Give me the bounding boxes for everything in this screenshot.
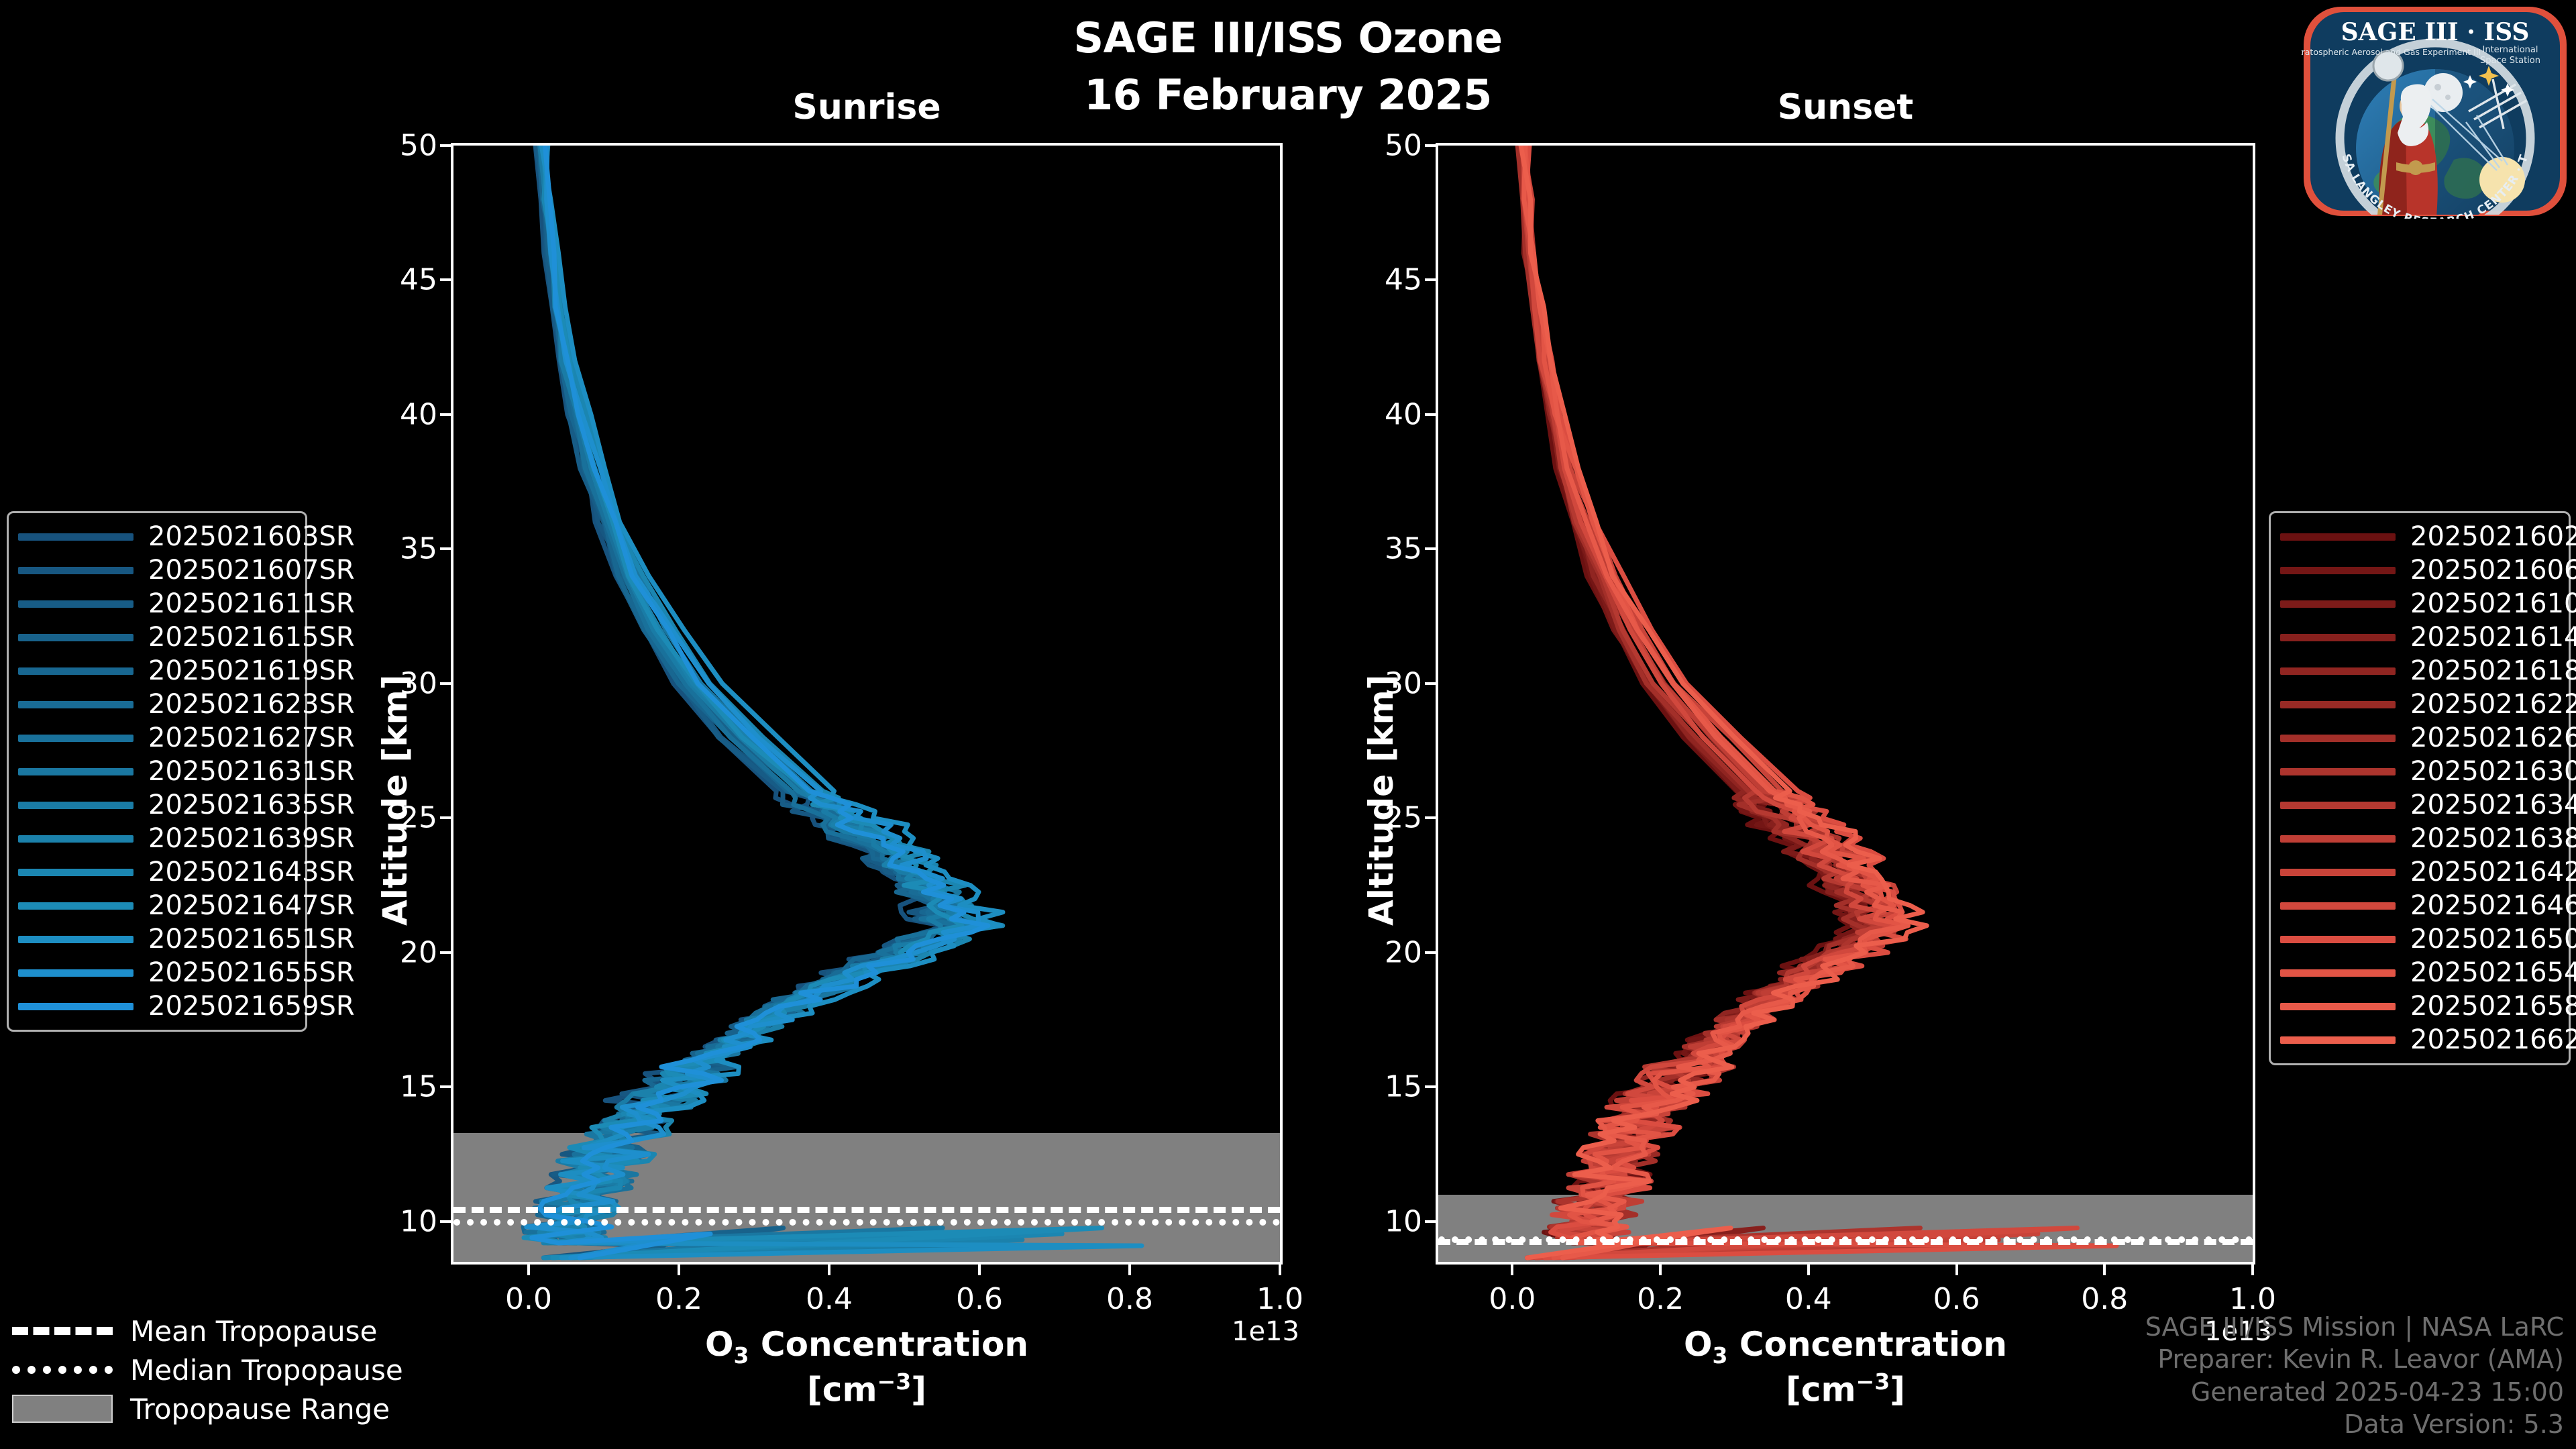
- legend-sunrise[interactable]: 2025021603SR2025021607SR2025021611SR2025…: [7, 511, 307, 1032]
- legend-item-label: 2025021619SR: [148, 655, 355, 686]
- y-tick-label: 45: [1355, 263, 1422, 297]
- legend-sunset[interactable]: 2025021602SS2025021606SS2025021610SS2025…: [2269, 511, 2571, 1065]
- legend-item-label: 2025021646SS: [2410, 890, 2576, 921]
- x-axis-label-sunrise: O3 Concentration [cm−3]: [451, 1325, 1283, 1410]
- credits-line: Preparer: Kevin R. Leavor (AMA): [2145, 1343, 2564, 1376]
- legend-sunset-item[interactable]: 2025021658SS: [2280, 989, 2559, 1023]
- legend-item-label: 2025021643SR: [148, 857, 355, 888]
- xlabel-o: O: [705, 1325, 734, 1364]
- y-tick-label: 40: [370, 397, 437, 431]
- logo-title: SAGE III · ISS: [2341, 18, 2530, 46]
- figure-canvas: SAGE III/ISS Ozone 16 February 2025 Sunr…: [0, 0, 2576, 1449]
- y-tick-mark: [440, 1220, 451, 1223]
- legend-color-swatch: [18, 802, 133, 809]
- y-tick-label: 35: [1355, 532, 1422, 566]
- x-tick-label: 0.8: [1106, 1282, 1153, 1316]
- tropopause-key-item: Mean Tropopause: [12, 1311, 428, 1350]
- profile-line: [545, 146, 949, 1258]
- panel-title-sunset: Sunset: [1436, 87, 2255, 127]
- profile-line: [531, 146, 1142, 1258]
- legend-item-label: 2025021627SR: [148, 722, 355, 753]
- legend-color-swatch: [2280, 567, 2396, 574]
- legend-item-label: 2025021610SS: [2410, 588, 2576, 619]
- page-title-line1: SAGE III/ISS Ozone: [0, 13, 2576, 62]
- x-tick-mark: [1955, 1265, 1958, 1275]
- legend-sunrise-item[interactable]: 2025021639SR: [18, 822, 296, 855]
- legend-item-label: 2025021635SR: [148, 790, 355, 820]
- profile-line: [1524, 146, 2077, 1258]
- xlabel-unit-close: ]: [1890, 1371, 1905, 1409]
- y-tick-mark: [1425, 816, 1436, 819]
- profile-line: [1521, 146, 1960, 1258]
- profile-line: [527, 146, 979, 1258]
- legend-item-label: 2025021639SR: [148, 823, 355, 854]
- y-tick-label: 40: [1355, 397, 1422, 431]
- legend-color-swatch: [18, 567, 133, 574]
- legend-sunset-item[interactable]: 2025021630SS: [2280, 755, 2559, 788]
- x-axis-label-sunset: O3 Concentration [cm−3]: [1436, 1325, 2255, 1410]
- x-tick-label: 0.4: [806, 1282, 853, 1316]
- xlabel-subscript: 3: [1713, 1342, 1728, 1368]
- median-tropopause-line: [453, 1219, 1280, 1226]
- xlabel-subscript: 3: [734, 1342, 749, 1368]
- y-tick-label: 20: [370, 935, 437, 969]
- plot-axes-sunrise: [451, 143, 1283, 1265]
- legend-color-swatch: [2280, 936, 2396, 943]
- x-tick-label: 0.4: [1785, 1282, 1832, 1316]
- y-tick-mark: [1425, 278, 1436, 281]
- profile-line: [1523, 146, 2038, 1258]
- y-tick-label: 45: [370, 263, 437, 297]
- x-tick-mark: [1511, 1265, 1513, 1275]
- y-tick-label: 15: [370, 1070, 437, 1104]
- profile-line: [1525, 146, 2116, 1258]
- x-tick-mark: [1279, 1265, 1281, 1275]
- legend-color-swatch: [2280, 969, 2396, 977]
- legend-color-swatch: [18, 600, 133, 608]
- profile-line: [532, 146, 988, 1258]
- legend-sunset-item[interactable]: 2025021650SS: [2280, 922, 2559, 956]
- legend-color-swatch: [2280, 902, 2396, 910]
- ozone-profile-curves: [453, 146, 1280, 1262]
- logo-subtitle-left: Stratospheric Aerosol and Gas Experiment…: [2301, 47, 2481, 57]
- profile-line: [523, 146, 966, 1258]
- legend-sunrise-item[interactable]: 2025021619SR: [18, 654, 296, 688]
- x-tick-label: 0.6: [1933, 1282, 1980, 1316]
- profile-line: [1526, 146, 1891, 1258]
- legend-color-swatch: [2280, 667, 2396, 675]
- legend-sunrise-item[interactable]: 2025021603SR: [18, 520, 296, 553]
- y-tick-mark: [440, 144, 451, 147]
- legend-color-swatch: [18, 969, 133, 977]
- legend-item-label: 2025021630SS: [2410, 756, 2576, 787]
- x-tick-label: 0.8: [2081, 1282, 2128, 1316]
- legend-color-swatch: [18, 902, 133, 910]
- legend-sunset-item[interactable]: 2025021614SS: [2280, 621, 2559, 654]
- legend-sunrise-item[interactable]: 2025021651SR: [18, 922, 296, 956]
- legend-color-swatch: [2280, 701, 2396, 708]
- y-tick-mark: [1425, 547, 1436, 550]
- legend-color-swatch: [18, 936, 133, 943]
- legend-color-swatch: [18, 667, 133, 675]
- profile-line: [540, 146, 987, 1258]
- legend-item-label: 2025021623SR: [148, 689, 355, 720]
- legend-sunrise-item[interactable]: 2025021635SR: [18, 788, 296, 822]
- x-tick-label: 0.2: [655, 1282, 702, 1316]
- x-tick-mark: [1659, 1265, 1662, 1275]
- legend-item-label: 2025021614SS: [2410, 622, 2576, 653]
- legend-sunrise-item[interactable]: 2025021607SR: [18, 553, 296, 587]
- legend-sunrise-item[interactable]: 2025021611SR: [18, 587, 296, 621]
- legend-color-swatch: [18, 768, 133, 775]
- profile-line: [1523, 146, 1999, 1258]
- profile-line: [534, 146, 981, 1258]
- profile-line: [1527, 146, 1900, 1258]
- profile-line: [1521, 146, 1927, 1258]
- gray-patch-icon: [12, 1395, 113, 1423]
- legend-item-label: 2025021638SS: [2410, 823, 2576, 854]
- x-tick-mark: [678, 1265, 680, 1275]
- legend-color-swatch: [2280, 802, 2396, 809]
- credits-line: Data Version: 5.3: [2145, 1408, 2564, 1441]
- legend-sunset-item[interactable]: 2025021606SS: [2280, 553, 2559, 587]
- legend-sunset-item[interactable]: 2025021646SS: [2280, 889, 2559, 922]
- y-tick-label: 10: [1355, 1204, 1422, 1238]
- legend-item-label: 2025021607SR: [148, 555, 355, 586]
- y-tick-mark: [440, 278, 451, 281]
- legend-sunset-item[interactable]: 2025021654SS: [2280, 956, 2559, 989]
- profile-line: [543, 146, 1062, 1258]
- legend-sunrise-item[interactable]: 2025021659SR: [18, 989, 296, 1023]
- dotted-line-icon: [12, 1366, 113, 1374]
- tropopause-key-item: Median Tropopause: [12, 1350, 428, 1389]
- mean-tropopause-line: [453, 1207, 1280, 1213]
- y-tick-mark: [440, 682, 451, 685]
- tropopause-key-label: Tropopause Range: [130, 1393, 390, 1426]
- median-tropopause-line: [1438, 1236, 2253, 1243]
- legend-sunset-item[interactable]: 2025021618SS: [2280, 654, 2559, 688]
- panel-title-sunrise: Sunrise: [451, 87, 1283, 127]
- xlabel-unit-close: ]: [911, 1371, 926, 1409]
- legend-item-label: 2025021611SR: [148, 588, 355, 619]
- legend-item-label: 2025021615SR: [148, 622, 355, 653]
- y-tick-label: 50: [370, 129, 437, 163]
- tropopause-key-label: Mean Tropopause: [130, 1315, 377, 1348]
- legend-sunrise-item[interactable]: 2025021627SR: [18, 721, 296, 755]
- xlabel-unit-open: [cm: [807, 1371, 877, 1409]
- legend-sunset-item[interactable]: 2025021638SS: [2280, 822, 2559, 855]
- y-tick-mark: [1425, 1085, 1436, 1088]
- legend-sunrise-item[interactable]: 2025021615SR: [18, 621, 296, 654]
- legend-item-label: 2025021602SS: [2410, 521, 2576, 552]
- legend-sunrise-item[interactable]: 2025021623SR: [18, 688, 296, 721]
- legend-sunset-item[interactable]: 2025021610SS: [2280, 587, 2559, 621]
- x-tick-label: 0.6: [956, 1282, 1003, 1316]
- legend-item-label: 2025021654SS: [2410, 957, 2576, 988]
- y-tick-mark: [440, 413, 451, 416]
- legend-item-label: 2025021651SR: [148, 924, 355, 955]
- legend-sunset-item[interactable]: 2025021602SS: [2280, 520, 2559, 553]
- sage-iii-iss-mission-patch-logo: BALL · NASA LANGLEY RESEARCH CENTER · TA…: [2301, 4, 2569, 219]
- xlabel-rest: Concentration: [1728, 1325, 2007, 1364]
- y-tick-mark: [1425, 951, 1436, 954]
- legend-item-label: 2025021634SS: [2410, 790, 2576, 820]
- legend-sunset-item[interactable]: 2025021642SS: [2280, 855, 2559, 889]
- legend-item-label: 2025021618SS: [2410, 655, 2576, 686]
- legend-item-label: 2025021655SR: [148, 957, 355, 988]
- legend-color-swatch: [18, 533, 133, 541]
- legend-item-label: 2025021606SS: [2410, 555, 2576, 586]
- y-tick-label: 15: [1355, 1070, 1422, 1104]
- y-tick-label: 50: [1355, 129, 1422, 163]
- legend-sunrise-item[interactable]: 2025021631SR: [18, 755, 296, 788]
- legend-item-label: 2025021658SS: [2410, 991, 2576, 1022]
- legend-color-swatch: [2280, 735, 2396, 742]
- y-tick-label: 35: [370, 532, 437, 566]
- legend-color-swatch: [2280, 835, 2396, 843]
- plot-area-sunrise: [453, 146, 1280, 1262]
- legend-sunset-item[interactable]: 2025021662SS: [2280, 1023, 2559, 1057]
- legend-item-label: 2025021647SR: [148, 890, 355, 921]
- credits-line: SAGE III/ISS Mission | NASA LaRC: [2145, 1311, 2564, 1344]
- x-tick-mark: [978, 1265, 981, 1275]
- credits-line: Generated 2025-04-23 15:00: [2145, 1376, 2564, 1409]
- xlabel-rest: Concentration: [749, 1325, 1028, 1364]
- legend-item-label: 2025021662SS: [2410, 1024, 2576, 1055]
- legend-color-swatch: [18, 735, 133, 742]
- tropopause-key-marker: [12, 1366, 113, 1374]
- legend-item-label: 2025021642SS: [2410, 857, 2576, 888]
- ozone-profile-curves: [1438, 146, 2253, 1262]
- profile-line: [524, 146, 1102, 1258]
- legend-color-swatch: [2280, 768, 2396, 775]
- legend-item-label: 2025021626SS: [2410, 722, 2576, 753]
- y-tick-mark: [440, 816, 451, 819]
- plot-area-sunset: [1438, 146, 2253, 1262]
- xlabel-unit-exp: −3: [1856, 1368, 1890, 1395]
- dashed-line-icon: [12, 1327, 113, 1335]
- legend-item-label: 2025021650SS: [2410, 924, 2576, 955]
- profile-line: [1523, 146, 1908, 1258]
- y-tick-mark: [1425, 1220, 1436, 1223]
- legend-sunrise-item[interactable]: 2025021647SR: [18, 889, 296, 922]
- xlabel-unit-open: [cm: [1786, 1371, 1856, 1409]
- tropopause-key-marker: [12, 1327, 113, 1335]
- legend-color-swatch: [18, 634, 133, 641]
- legend-color-swatch: [2280, 634, 2396, 641]
- legend-color-swatch: [2280, 1036, 2396, 1044]
- legend-color-swatch: [2280, 869, 2396, 876]
- y-tick-mark: [1425, 682, 1436, 685]
- profile-line: [539, 146, 1022, 1258]
- tropopause-key-marker: [12, 1395, 113, 1423]
- x-tick-label: 1.0: [1256, 1282, 1303, 1316]
- profile-line: [1525, 146, 1908, 1258]
- y-tick-label: 10: [370, 1204, 437, 1238]
- tropopause-key-label: Median Tropopause: [130, 1354, 403, 1387]
- y-tick-mark: [440, 951, 451, 954]
- y-tick-mark: [440, 547, 451, 550]
- legend-item-label: 2025021659SR: [148, 991, 355, 1022]
- legend-item-label: 2025021603SR: [148, 521, 355, 552]
- x-tick-mark: [2251, 1265, 2254, 1275]
- legend-color-swatch: [18, 835, 133, 843]
- legend-item-label: 2025021622SS: [2410, 689, 2576, 720]
- logo-subtitle-right-1: International: [2483, 45, 2538, 55]
- x-axis-offset-sunrise: 1e13: [1232, 1316, 1299, 1347]
- xlabel-o: O: [1684, 1325, 1713, 1364]
- profile-line: [540, 146, 983, 1258]
- legend-color-swatch: [2280, 600, 2396, 608]
- y-tick-label: 20: [1355, 935, 1422, 969]
- credits-block: SAGE III/ISS Mission | NASA LaRCPreparer…: [2145, 1311, 2564, 1442]
- x-tick-mark: [527, 1265, 530, 1275]
- y-axis-label-sunrise: Altitude [km]: [376, 674, 415, 926]
- legend-item-label: 2025021631SR: [148, 756, 355, 787]
- plot-axes-sunset: [1436, 143, 2255, 1265]
- x-tick-label: 0.0: [505, 1282, 552, 1316]
- legend-color-swatch: [2280, 1003, 2396, 1010]
- x-tick-mark: [2103, 1265, 2106, 1275]
- x-tick-label: 0.2: [1637, 1282, 1684, 1316]
- x-tick-label: 0.0: [1489, 1282, 1536, 1316]
- legend-color-swatch: [18, 1003, 133, 1010]
- legend-sunrise-item[interactable]: 2025021655SR: [18, 956, 296, 989]
- legend-sunset-item[interactable]: 2025021626SS: [2280, 721, 2559, 755]
- xlabel-unit-exp: −3: [877, 1368, 912, 1395]
- y-axis-label-sunset: Altitude [km]: [1362, 674, 1401, 926]
- profile-line: [542, 146, 967, 1258]
- x-tick-mark: [1807, 1265, 1810, 1275]
- legend-sunset-item[interactable]: 2025021634SS: [2280, 788, 2559, 822]
- legend-color-swatch: [18, 869, 133, 876]
- legend-sunset-item[interactable]: 2025021622SS: [2280, 688, 2559, 721]
- tropopause-key-item: Tropopause Range: [12, 1389, 428, 1428]
- legend-sunrise-item[interactable]: 2025021643SR: [18, 855, 296, 889]
- y-tick-mark: [1425, 413, 1436, 416]
- y-tick-mark: [1425, 144, 1436, 147]
- tropopause-key: Mean TropopauseMedian TropopauseTropopau…: [12, 1311, 428, 1428]
- y-tick-mark: [440, 1085, 451, 1088]
- profile-line: [1521, 146, 1921, 1258]
- x-tick-mark: [828, 1265, 830, 1275]
- legend-color-swatch: [18, 701, 133, 708]
- x-tick-mark: [1128, 1265, 1131, 1275]
- logo-subtitle-right-2: Space Station: [2480, 56, 2540, 66]
- legend-color-swatch: [2280, 533, 2396, 541]
